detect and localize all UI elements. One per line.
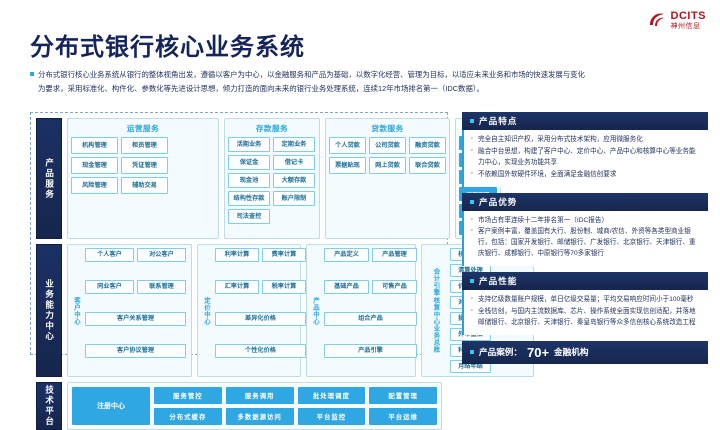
tile-bill-discount[interactable]: 票据贴现	[329, 157, 366, 174]
tile-sellable-product[interactable]: 可售产品	[372, 280, 417, 294]
page-title: 分布式银行核心业务系统	[30, 27, 305, 62]
tile-exchange-rate-calc[interactable]: 汇率计算	[215, 280, 259, 294]
tile-judicial-control[interactable]: 司法查控	[228, 209, 270, 224]
square-bullet-icon	[470, 200, 474, 204]
band-capability-centers: 业务能力中心 客户中心 个人客户 对公客户 同业客户 联系管理 客户关系管理 客…	[36, 244, 442, 377]
tech-btn-service-governance[interactable]: 服务管控	[154, 387, 222, 404]
panel-product-performance: 产品性能 支持亿级数量账户规模，单日亿级交易量；平均交易响应时间小于100毫秒 …	[462, 272, 708, 335]
tech-btn-platform-ops[interactable]: 平台运维	[369, 408, 437, 425]
panel-title-product-advantages: 产品优势	[479, 196, 517, 208]
case-label: 产品案例：	[479, 346, 522, 358]
square-bullet-icon	[470, 279, 474, 283]
panel-body-product-performance: 支持亿级数量账户规模，单日亿级交易量；平均交易响应时间小于100毫秒 全栈信创，…	[462, 290, 708, 335]
tech-registry-center[interactable]: 注册中心	[72, 387, 150, 425]
band-tech-platform: 技术平台 注册中心 服务管控 服务调用 批处理调度 配置管理 分布式缓存 多数据…	[36, 382, 442, 430]
tile-product-engine[interactable]: 产品引擎	[324, 344, 417, 358]
tile-joint-loan[interactable]: 联合贷款	[409, 157, 446, 174]
band-label-capability-centers: 业务能力中心	[36, 244, 62, 377]
tile-cash-mgmt[interactable]: 现金管理	[71, 157, 118, 174]
case-suffix: 金融机构	[554, 346, 588, 358]
side-panels: 产品特点 完全自主知识产权，采用分布式技术架构，应用微服务化 融合中台思想，构建…	[462, 112, 708, 355]
tile-product-definition[interactable]: 产品定义	[324, 248, 369, 262]
group-operation-services: 运营服务 机构管理 柜员管理 现金管理 凭证管理 风险管理 辅助交易	[67, 118, 219, 239]
tile-personalized-price[interactable]: 个性化价格	[215, 344, 306, 358]
panel-tech-platform: 注册中心 服务管控 服务调用 批处理调度 配置管理 分布式缓存 多数据源访问 平…	[67, 382, 442, 430]
tile-debit-card[interactable]: 借记卡	[273, 155, 315, 170]
center-name-accounting-engine: 会计引擎	[432, 268, 441, 296]
group-deposit-services: 存款服务 活期业务 定期业务 保证金 借记卡 现金池 大额存款 结构性存款 账户…	[224, 118, 320, 239]
case-number: 70+	[527, 345, 549, 360]
tile-financing-loan[interactable]: 融资贷款	[409, 137, 446, 154]
center-product: 产品中心 产品定义 产品管理 基础产品 可售产品 组合产品 产品引擎	[306, 244, 416, 377]
center-name-pricing: 定价中心	[201, 248, 212, 373]
center-name-accounting-label: 核算中心	[432, 297, 441, 325]
tech-btn-multi-datasource[interactable]: 多数据源访问	[226, 408, 294, 425]
panel-title-product-features: 产品特点	[479, 115, 517, 127]
group-loan-services: 贷款服务 个人贷款 公司贷款 融资贷款 票据贴现 网上贷款 联合贷款	[325, 118, 450, 239]
panel-product-advantages: 产品优势 市场占有率连续十二年排名第一（IDC报告） 客户案例丰富，覆盖国有大行…	[462, 193, 708, 267]
list-item: 客户案例丰富，覆盖国有大行、股份制、城商/农信、外资等各类型商业银行，包括：国家…	[471, 227, 702, 260]
center-pricing: 定价中心 利率计算 费率计算 汇率计算 税率计算 差异化价格 个性化价格	[197, 244, 301, 377]
panel-title-product-performance: 产品性能	[479, 275, 517, 287]
tech-btn-service-invocation[interactable]: 服务调用	[226, 387, 294, 404]
tile-personal-customer[interactable]: 个人客户	[85, 248, 134, 262]
panel-body-product-advantages: 市场占有率连续十二年排名第一（IDC报告） 客户案例丰富，覆盖国有大行、股份制、…	[462, 211, 708, 267]
tile-combined-product[interactable]: 组合产品	[324, 312, 417, 326]
badge-product-cases: 产品案例： 70+ 金融机构	[462, 341, 708, 364]
center-name-product: 产品中心	[310, 248, 321, 373]
tile-corporate-loan[interactable]: 公司贷款	[369, 137, 406, 154]
tile-personal-loan[interactable]: 个人贷款	[329, 137, 366, 154]
dcits-logo-icon	[647, 10, 667, 30]
tech-btn-distributed-cache[interactable]: 分布式缓存	[154, 408, 222, 425]
tile-voucher-mgmt[interactable]: 凭证管理	[121, 157, 168, 174]
tile-contact-mgmt[interactable]: 联系管理	[137, 280, 186, 294]
tile-cash-pool[interactable]: 现金池	[228, 173, 270, 188]
tile-aux-txn[interactable]: 辅助交易	[121, 177, 168, 194]
tile-corporate-customer[interactable]: 对公客户	[137, 248, 186, 262]
list-item: 不依赖国外软硬件环境，全面满足金融信创要求	[471, 170, 702, 181]
band-label-tech-platform: 技术平台	[36, 382, 62, 430]
tile-base-product[interactable]: 基础产品	[324, 280, 369, 294]
tile-fee-rate-calc[interactable]: 费率计算	[262, 248, 306, 262]
intro-paragraph: 分布式银行核心业务系统从银行的整体视角出发，遵循以客户为中心，以金融服务和产品为…	[30, 68, 702, 96]
tile-time-deposit[interactable]: 定期业务	[273, 137, 315, 152]
tile-margin[interactable]: 保证金	[228, 155, 270, 170]
tech-btn-platform-monitor[interactable]: 平台监控	[298, 408, 366, 425]
list-item: 全栈信创，与国内主流数据库、芯片、操作系统全面实现信创适配，并落地邮储银行、北京…	[471, 307, 702, 329]
list-item: 完全自主知识产权，采用分布式技术架构，应用微服务化	[471, 135, 702, 146]
tile-risk-mgmt[interactable]: 风险管理	[71, 177, 118, 194]
panel-body-product-features: 完全自主知识产权，采用分布式技术架构，应用微服务化 融合中台思想，构建了客户中心…	[462, 130, 708, 187]
tile-customer-relation-mgmt[interactable]: 客户关系管理	[85, 312, 186, 326]
tech-btn-config-mgmt[interactable]: 配置管理	[369, 387, 437, 404]
list-item: 融合中台思想，构建了客户中心、定价中心、产品中心和核算中心等业务能力中心，实现业…	[471, 147, 702, 169]
square-bullet-icon	[470, 350, 474, 354]
tile-large-deposit[interactable]: 大额存款	[273, 173, 315, 188]
tile-interbank-customer[interactable]: 同业客户	[85, 280, 134, 294]
tile-teller-mgmt[interactable]: 柜员管理	[121, 137, 168, 154]
tech-btn-batch-scheduling[interactable]: 批处理调度	[298, 387, 366, 404]
tile-account-restrict[interactable]: 账户限制	[273, 191, 315, 206]
intro-line-2: 为要求，采用标准化、构件化、参数化等先进设计思想，倾力打造的面向未来的银行业务处…	[30, 82, 702, 96]
logo-subtext: 神州信息	[671, 23, 707, 30]
list-item: 市场占有率连续十二年排名第一（IDC报告）	[471, 216, 702, 227]
band-label-product-services: 产品服务	[36, 118, 62, 239]
tile-interest-rate-calc[interactable]: 利率计算	[215, 248, 259, 262]
tile-product-mgmt[interactable]: 产品管理	[372, 248, 417, 262]
center-name-accounting: 会计引擎 核算中心 业务总账	[425, 248, 447, 373]
brand-logo: DCITS 神州信息	[647, 10, 707, 30]
tile-org-mgmt[interactable]: 机构管理	[71, 137, 118, 154]
center-customer: 客户中心 个人客户 对公客户 同业客户 联系管理 客户关系管理 客户协议管理	[67, 244, 192, 377]
panel-product-features: 产品特点 完全自主知识产权，采用分布式技术架构，应用微服务化 融合中台思想，构建…	[462, 112, 708, 187]
panel-header-product-advantages: 产品优势	[462, 193, 708, 211]
slide-root: DCITS 神州信息 分布式银行核心业务系统 分布式银行核心业务系统从银行的整体…	[0, 0, 720, 405]
center-name-customer: 客户中心	[71, 248, 82, 373]
architecture-diagram: 产品服务 运营服务 机构管理 柜员管理 现金管理 凭证管理 风险管理 辅助交易 …	[30, 112, 448, 355]
intro-text-1: 分布式银行核心业务系统从银行的整体视角出发，遵循以客户为中心，以金融服务和产品为…	[38, 70, 585, 79]
bullet-icon	[30, 72, 34, 76]
panel-header-product-features: 产品特点	[462, 112, 708, 130]
tile-demand-deposit[interactable]: 活期业务	[228, 137, 270, 152]
tile-customer-agreement-mgmt[interactable]: 客户协议管理	[85, 344, 186, 358]
group-title-deposit: 存款服务	[228, 123, 316, 134]
list-item: 支持亿级数量账户规模，单日亿级交易量；平均交易响应时间小于100毫秒	[471, 295, 702, 306]
tile-structured-deposit[interactable]: 结构性存款	[228, 191, 270, 206]
square-bullet-icon	[470, 119, 474, 123]
logo-wordmark: DCITS	[671, 11, 707, 22]
group-title-operation: 运营服务	[71, 123, 215, 134]
tile-differential-price[interactable]: 差异化价格	[215, 312, 306, 326]
center-name-business-ledger: 业务总账	[432, 325, 441, 353]
tile-online-loan[interactable]: 网上贷款	[369, 157, 406, 174]
tile-tax-rate-calc[interactable]: 税率计算	[262, 280, 306, 294]
band-product-services: 产品服务 运营服务 机构管理 柜员管理 现金管理 凭证管理 风险管理 辅助交易 …	[36, 118, 442, 239]
intro-line-1: 分布式银行核心业务系统从银行的整体视角出发，遵循以客户为中心，以金融服务和产品为…	[30, 68, 702, 82]
group-title-loan: 贷款服务	[329, 123, 446, 134]
panel-header-product-performance: 产品性能	[462, 272, 708, 290]
